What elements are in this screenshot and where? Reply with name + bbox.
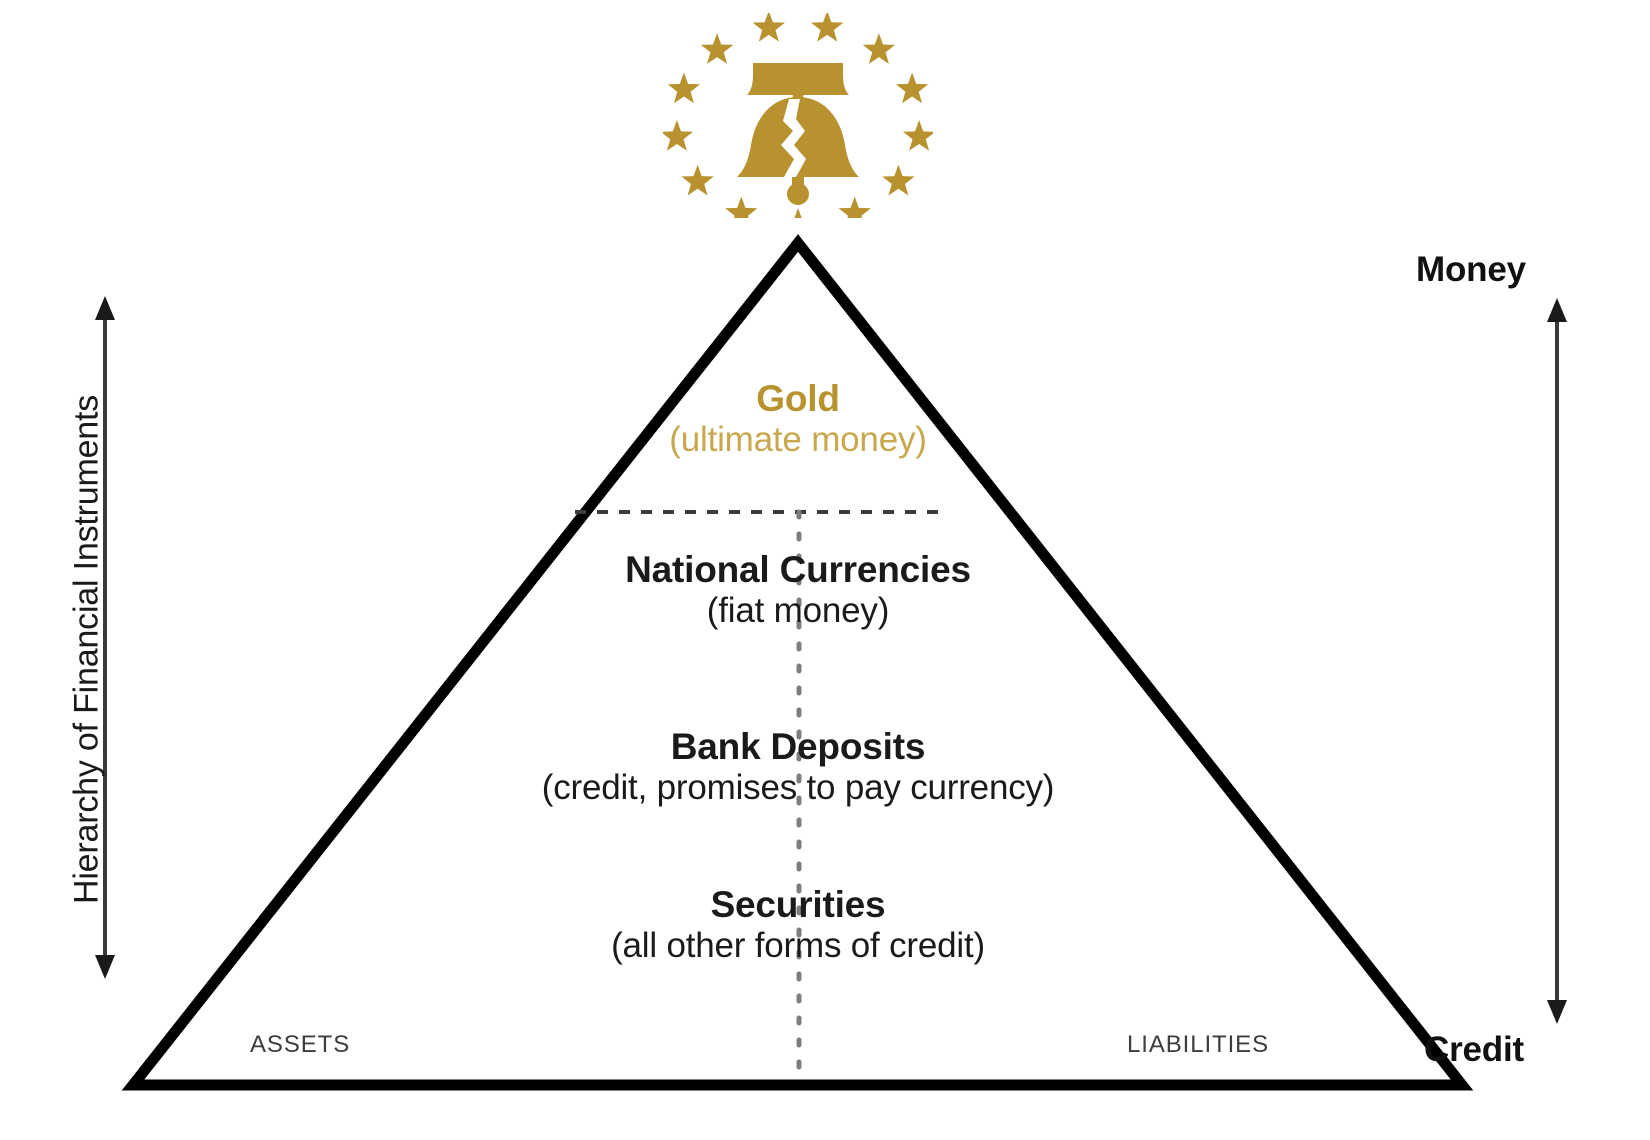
tier-title-securities: Securities — [248, 884, 1348, 926]
star-icon — [896, 73, 928, 104]
pyramid-tier-securities: Securities (all other forms of credit) — [248, 884, 1348, 965]
tier-title-gold: Gold — [248, 378, 1348, 420]
tier-title-national-currencies: National Currencies — [248, 549, 1348, 591]
star-icon — [668, 73, 700, 104]
star-icon — [903, 120, 933, 151]
star-icon — [863, 33, 895, 64]
hierarchy-axis-label: Hierarchy of Financial Instruments — [68, 270, 107, 1030]
star-icon — [663, 120, 693, 151]
liabilities-label: LIABILITIES — [1127, 1031, 1269, 1059]
pyramid-tier-national-currencies: National Currencies (fiat money) — [248, 549, 1348, 630]
tier-subtitle-securities: (all other forms of credit) — [248, 926, 1348, 966]
diagram-canvas: Gold (ultimate money) National Currencie… — [0, 0, 1650, 1140]
liberty-bell-emblem — [663, 13, 933, 218]
pyramid-tier-bank-deposits: Bank Deposits (credit, promises to pay c… — [248, 726, 1348, 807]
star-icon — [782, 208, 814, 218]
star-icon — [811, 13, 843, 42]
star-icon — [882, 165, 914, 196]
star-icon — [681, 165, 713, 196]
pyramid-tier-gold: Gold (ultimate money) — [248, 378, 1348, 459]
tier-title-bank-deposits: Bank Deposits — [248, 726, 1348, 768]
assets-label: ASSETS — [250, 1031, 350, 1059]
tier-subtitle-gold: (ultimate money) — [248, 420, 1348, 460]
money-axis-label: Money — [1416, 250, 1526, 290]
credit-axis-label: Credit — [1424, 1030, 1524, 1070]
star-icon — [725, 197, 757, 218]
star-icon — [753, 13, 785, 42]
tier-subtitle-national-currencies: (fiat money) — [248, 591, 1348, 631]
star-icon — [839, 197, 871, 218]
tier-subtitle-bank-deposits: (credit, promises to pay currency) — [248, 768, 1348, 808]
liberty-bell-icon — [663, 13, 933, 218]
money-credit-axis-arrow — [1547, 298, 1567, 1024]
star-icon — [701, 33, 733, 64]
